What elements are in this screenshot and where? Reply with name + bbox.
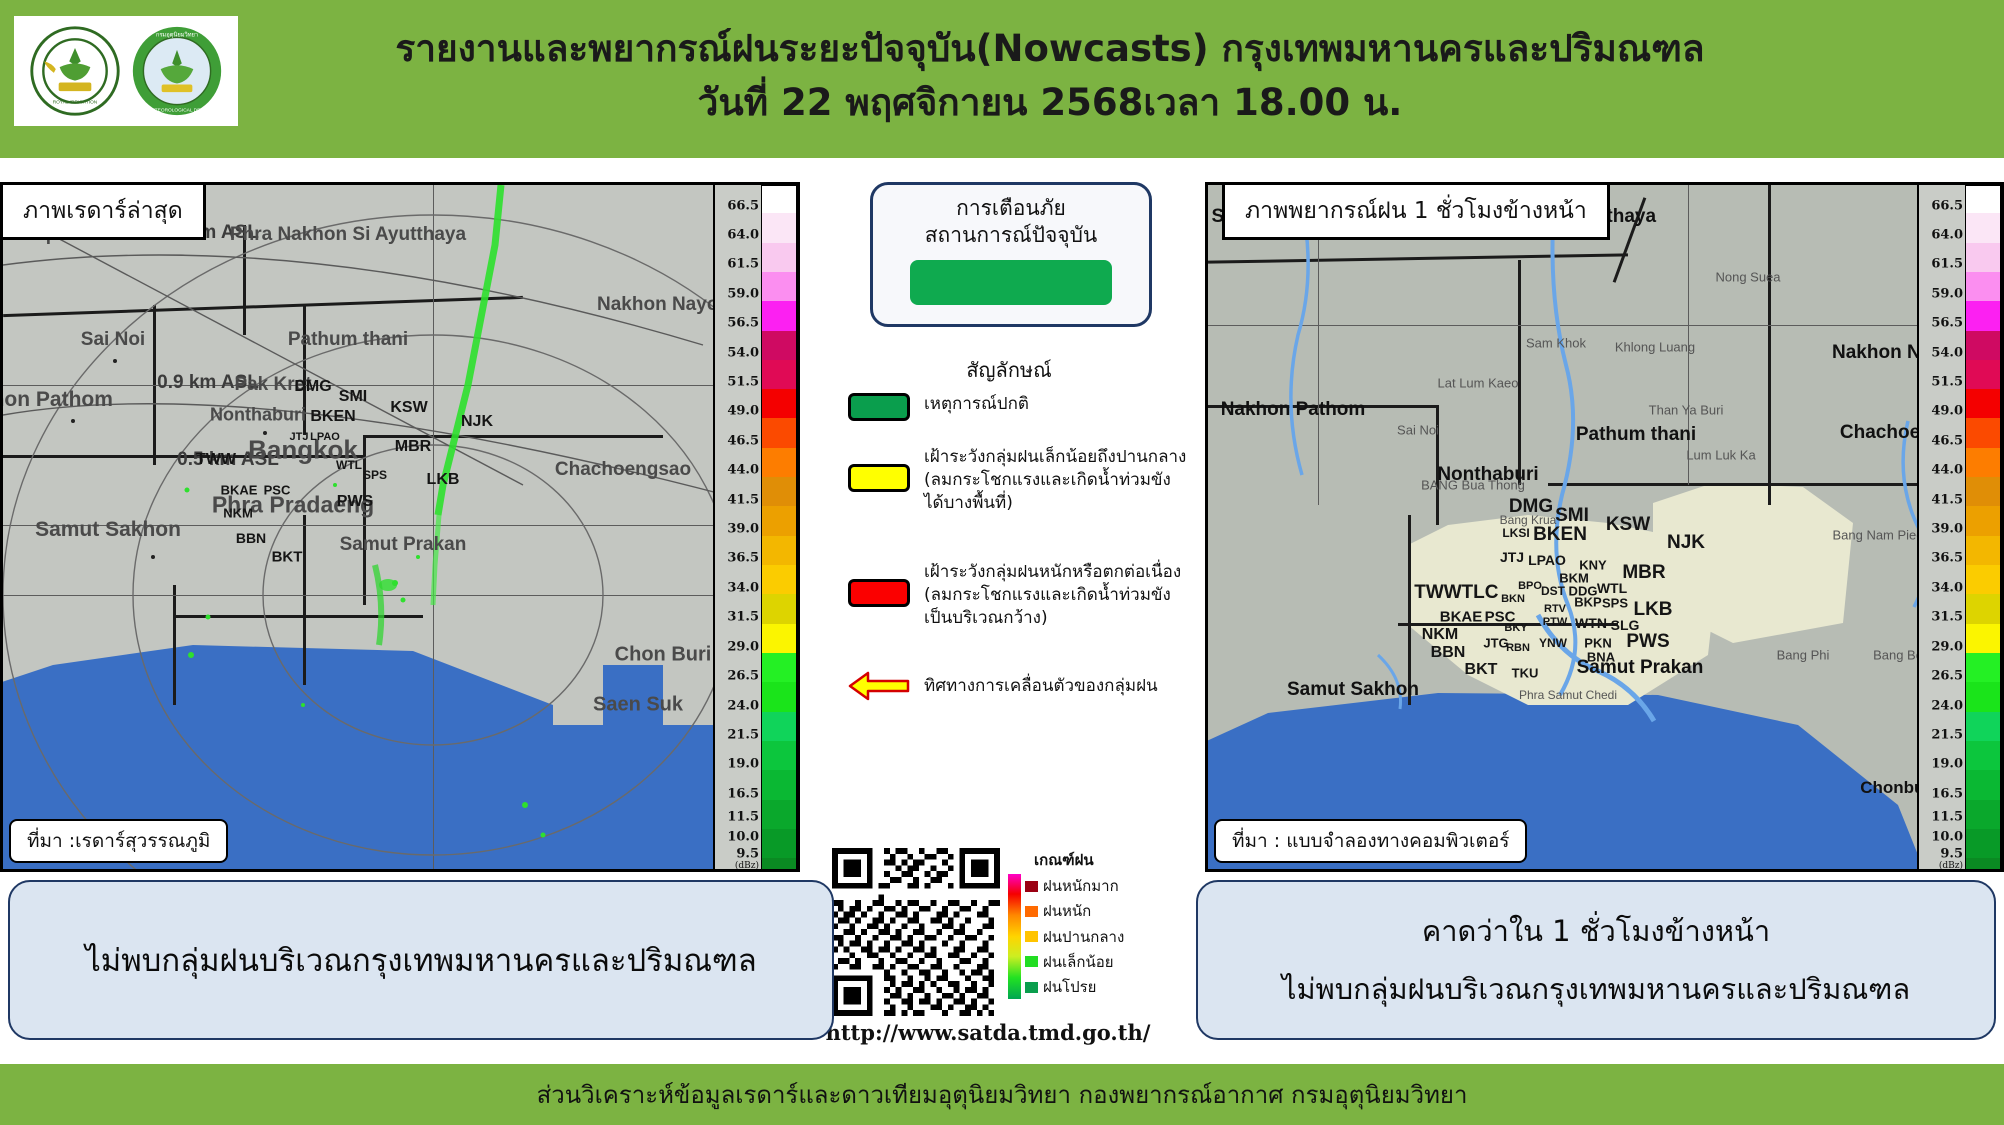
map-label-chachoengsao: Chachoengsao [555,459,691,481]
district-code-tww: TWW [196,451,236,469]
dbz-tick: 34.0 [727,580,759,595]
map-label-bang-phi: Bang Phi [1777,648,1830,663]
district-code-njk: NJK [461,413,493,431]
district-code-wtn: WTN [1575,615,1607,631]
city-dot [113,359,117,363]
district-code-bkt: BKT [1465,661,1498,679]
dbz-swatch [1966,536,2000,565]
rain-chip-very-heavy [1025,881,1038,892]
rain-chip-light [1025,956,1038,967]
district-code-bkae: BKAE [1440,609,1483,626]
dbz-swatch [1966,477,2000,506]
summary-forecast: คาดว่าใน 1 ชั่วโมงข้างหน้า ไม่พบกลุ่มฝนบ… [1196,880,1996,1040]
dbz-tick: 29.0 [1931,639,1963,654]
district-code-sps: SPS [1602,596,1628,611]
dbz-swatch [762,186,796,213]
district-code-lksi: LKSI [1502,526,1529,540]
dbz-tick: 16.5 [1931,786,1963,801]
dbz-swatch [1966,682,2000,711]
map-label-nakhon-nayok: Nakhon Nayok [597,294,729,316]
district-code-ynw: YNW [1539,636,1567,650]
page-title-line2: วันที่ 22 พฤศจิกายน 2568เวลา 18.00 น. [300,76,1800,130]
map-label-chon-buri: Chon Buri [615,644,712,667]
alert-status-card: การเตือนภัย สถานการณ์ปัจจุบัน [870,182,1152,327]
map-label-ayutthaya: Phra Nakhon Si Ayutthaya [230,224,466,246]
dbz-swatch [1966,858,2000,872]
district-code-njk: NJK [1667,532,1705,554]
alert-title-line2: สถานการณ์ปัจจุบัน [925,222,1098,249]
legend-title: สัญลักษณ์ [818,354,1200,386]
dbz-unit-label: (dBz) [735,861,759,871]
district-code-bpo: BPO [1518,580,1542,592]
map-label-saen-suk: Saen Suk [593,694,683,717]
dbz-tick: 46.5 [1931,433,1963,448]
legend-swatch-red [848,579,910,607]
dbz-tick: 44.0 [727,463,759,478]
dbz-swatch [762,712,796,741]
district-code-jtj: JTJ [1500,549,1524,565]
district-code-bkae: BKAE [221,483,258,498]
rain-criteria-item-heavy: ฝนหนัก [1025,899,1124,923]
content-stage: 1.8 km ASL 0.9 km ASL 0.5 km ASL [0,158,2004,1064]
dbz-swatch [762,477,796,506]
dbz-swatch [1966,506,2000,535]
map-label-bang-bo: Bang Bo [1873,648,1923,663]
dbz-swatch [1966,360,2000,389]
dbz-tick: 9.5 [1940,846,1963,861]
dbz-swatch [1966,331,2000,360]
dbz-swatch [1966,653,2000,682]
district-code-lpao: LPAO [310,431,340,443]
map-label-lat-lum-kaeo: Lat Lum Kaeo [1438,376,1519,391]
svg-text:กรมอุตุนิยมวิทยา: กรมอุตุนิยมวิทยา [156,31,198,38]
page-title-line1: รายงานและพยากรณ์ฝนระยะปัจจุบัน(Nowcasts)… [395,27,1704,70]
summary-forecast-line1: คาดว่าใน 1 ชั่วโมงข้างหน้า [1422,908,1770,954]
district-code-psc: PSC [264,483,291,498]
dbz-tick: 64.0 [727,227,759,242]
dbz-swatch [1966,301,2000,330]
legend-label-watch-heavy: เฝ้าระวังกลุ่มฝนหนักหรือตกต่อเนื่อง (ลมก… [924,561,1181,630]
rain-label-drizzle: ฝนโปรย [1043,975,1096,999]
district-code-pws: PWS [337,493,373,511]
dbz-tick: 21.5 [727,727,759,742]
legend-label-watch-light: เฝ้าระวังกลุ่มฝนเล็กน้อยถึงปานกลาง (ลมกร… [924,446,1186,515]
legend-item-watch-light: เฝ้าระวังกลุ่มฝนเล็กน้อยถึงปานกลาง (ลมกร… [848,446,1200,515]
rain-chip-moderate [1025,931,1038,942]
logo-box: ROYAL IRRIGATION กรมอุตุนิยมวิทยา METEOR… [14,16,238,126]
map-label-phra-samut-chedi: Phra Samut Chedi [1519,688,1617,702]
district-code-bken: BKEN [310,408,355,426]
dbz-tick: 59.0 [1931,286,1963,301]
district-code-bna: BNA [1587,650,1615,665]
legend-item-watch-heavy: เฝ้าระวังกลุ่มฝนหนักหรือตกต่อเนื่อง (ลมก… [848,561,1200,630]
rain-criteria-body: ฝนหนักมาก ฝนหนัก ฝนปานกลาง ฝนเล็กน้อย [1008,874,1198,999]
dbz-swatch [762,418,796,447]
website-url[interactable]: http://www.satda.tmd.go.th/ [818,1020,1158,1045]
dbz-tick: 39.0 [1931,522,1963,537]
rain-criteria-item-light: ฝนเล็กน้อย [1025,950,1124,974]
district-code-mbr: MBR [1622,562,1665,584]
district-code-bkt: BKT [272,549,303,566]
map-label-samut-sakhon: Samut Sakhon [1287,679,1419,701]
dbz-tick: 31.5 [727,610,759,625]
dbz-swatch [1966,594,2000,623]
map-label-sai-noi: Sai Noi [1397,423,1439,438]
dbz-swatch [762,536,796,565]
district-code-mbr: MBR [395,438,431,456]
district-code-tku: TKU [1512,666,1539,681]
dbz-swatch-stack [761,185,797,869]
dbz-tick: 51.5 [727,374,759,389]
dbz-tick: 36.5 [1931,551,1963,566]
dbz-tick: 66.5 [1931,198,1963,213]
map-label-nakhon-pathom: Nakhon Pathom [1221,399,1366,421]
district-code-smi: SMI [339,388,367,406]
dbz-unit-label: (dBz) [1939,861,1963,871]
dbz-swatch [762,506,796,535]
map-label-bang-nam-pieo: Bang Nam Pieo [1832,528,1923,543]
dbz-swatch [762,741,796,770]
dbz-swatch [1966,565,2000,594]
dbz-swatch [1966,770,2000,799]
rain-criteria-item-drizzle: ฝนโปรย [1025,975,1124,999]
dbz-tick: 29.0 [727,639,759,654]
rain-criteria-gradient-bar [1008,874,1021,999]
dbz-tick: 49.0 [1931,404,1963,419]
district-code-bbn: BBN [236,530,266,546]
district-code-lpao: LPAO [1528,552,1566,568]
dbz-tick: 39.0 [727,522,759,537]
map-label-nonthaburi: Nonthaburi [1437,464,1538,486]
radar-dbz-colorbar: 66.5 64.0 61.5 59.0 56.5 54.0 51.5 49.0 … [713,185,797,869]
dbz-swatch [1966,829,2000,858]
dbz-tick: 56.5 [1931,316,1963,331]
forecast-panel-caption: ภาพพยากรณ์ฝน 1 ชั่วโมงข้างหน้า [1222,182,1610,240]
district-code-dmg: DMG [294,378,331,396]
dbz-tick: 49.0 [727,404,759,419]
dbz-swatch [762,331,796,360]
dbz-tick: 59.0 [727,286,759,301]
map-label-lum-luk-ka: Lum Luk Ka [1686,448,1755,463]
legend-swatch-yellow [848,464,910,492]
dbz-swatch [1966,389,2000,418]
radar-panel[interactable]: 1.8 km ASL 0.9 km ASL 0.5 km ASL [0,182,800,872]
rain-label-moderate: ฝนปานกลาง [1043,925,1124,949]
dbz-swatch [1966,741,2000,770]
dbz-swatch [762,243,796,272]
page-title: รายงานและพยากรณ์ฝนระยะปัจจุบัน(Nowcasts)… [300,22,1800,129]
district-code-dmg: DMG [1509,496,1553,518]
rain-criteria-items: ฝนหนักมาก ฝนหนัก ฝนปานกลาง ฝนเล็กน้อย [1025,874,1124,999]
dbz-tick: 54.0 [727,345,759,360]
district-code-rbn: RBN [1506,642,1530,654]
page-header: ROYAL IRRIGATION กรมอุตุนิยมวิทยา METEOR… [0,0,2004,158]
city-dot [71,419,75,423]
district-code-bbn: BBN [1431,644,1466,662]
dbz-swatch [762,272,796,301]
dbz-tick: 10.0 [1931,829,1963,844]
district-code-jtj: JTJ [290,431,309,443]
rain-chip-heavy [1025,906,1038,917]
map-label-nong-suea: Nong Suea [1715,270,1780,285]
dbz-swatch [762,301,796,330]
district-code-bkp: BKP [1574,595,1601,610]
map-label-than-ya-buri: Than Ya Buri [1649,403,1724,418]
center-legend-column: การเตือนภัย สถานการณ์ปัจจุบัน สัญลักษณ์ … [818,158,1200,1064]
dbz-tick: 26.5 [727,669,759,684]
city-dot [151,555,155,559]
map-label-khlong-luang: Khlong Luang [1615,340,1695,355]
dbz-swatch [1966,272,2000,301]
qr-code-icon[interactable] [832,848,1000,1016]
dbz-swatch [1966,448,2000,477]
district-code-nkm: NKM [223,506,253,521]
dbz-swatch [1966,186,2000,213]
map-label-sai-noi: Sai Noi [81,329,145,351]
legend-item-direction: ทิศทางการเคลื่อนตัวของกลุ่มฝน [848,670,1200,702]
dbz-tick-labels: 66.5 64.0 61.5 59.0 56.5 54.0 51.5 49.0 … [715,185,761,869]
dbz-swatch [762,829,796,858]
district-code-bken: BKEN [1533,524,1587,546]
dbz-tick: 19.0 [1931,757,1963,772]
district-code-lkb: LKB [427,471,460,489]
map-label-sam-khok: Sam Khok [1526,336,1586,351]
dbz-tick: 64.0 [1931,227,1963,242]
radar-panel-caption: ภาพเรดาร์ล่าสุด [0,182,206,240]
dbz-swatch [762,624,796,653]
dbz-swatch [762,448,796,477]
dbz-tick: 24.0 [727,698,759,713]
dbz-tick: 19.0 [727,757,759,772]
dbz-tick: 41.5 [1931,492,1963,507]
district-code-ptw: PTW [1543,616,1567,628]
district-code-tww: TWW [1414,582,1461,604]
svg-text:METEOROLOGICAL DEPT: METEOROLOGICAL DEPT [148,107,207,113]
qr-code-wrapper[interactable] [832,848,1000,1021]
rain-criteria-item-moderate: ฝนปานกลาง [1025,925,1124,949]
map-label-samut-sakhon: Samut Sakhon [35,518,181,542]
dbz-tick-labels: 66.5 64.0 61.5 59.0 56.5 54.0 51.5 49.0 … [1919,185,1965,869]
alert-title-line1: การเตือนภัย [956,195,1066,222]
radar-source-label: ที่มา :เรดาร์สุวรรณภูมิ [9,819,228,863]
district-code-rtv: RTV [1544,603,1566,615]
dbz-swatch [762,360,796,389]
dbz-tick: 10.0 [727,829,759,844]
rain-label-very-heavy: ฝนหนักมาก [1043,874,1119,898]
forecast-panel[interactable]: Suphan Buri Phra Nakhon Si Ayutthaya Non… [1205,182,2004,872]
legend-swatch-green [848,393,910,421]
district-code-nkm: NKM [1422,626,1458,644]
dbz-tick: 26.5 [1931,669,1963,684]
map-label-nonthaburi: Nonthaburi [210,405,306,426]
district-code-wtl: WTL [336,458,362,472]
footer-text: ส่วนวิเคราะห์ข้อมูลเรดาร์และดาวเทียมอุตุ… [537,1075,1468,1114]
forecast-map[interactable]: Suphan Buri Phra Nakhon Si Ayutthaya Non… [1208,185,2001,869]
dbz-swatch [762,653,796,682]
alert-status-bar [910,260,1112,305]
dbz-swatch [1966,624,2000,653]
dbz-swatch [1966,418,2000,447]
dbz-tick: 66.5 [727,198,759,213]
district-code-bky: BKY [1504,622,1527,634]
summary-current: ไม่พบกลุ่มฝนบริเวณกรุงเทพมหานครและปริมณฑ… [8,880,834,1040]
legend-item-normal: เหตุการณ์ปกติ [848,393,1198,421]
dbz-tick: 36.5 [727,551,759,566]
legend-label-normal: เหตุการณ์ปกติ [924,393,1029,416]
district-code-bkn: BKN [1501,593,1525,605]
dbz-swatch [762,800,796,829]
dbz-tick: 31.5 [1931,610,1963,625]
left-arrow-icon [848,670,910,702]
city-dot [263,431,267,435]
dbz-tick: 34.0 [1931,580,1963,595]
rain-criteria-title: เกณฑ์ฝน [1034,848,1198,872]
rain-label-heavy: ฝนหนัก [1043,899,1091,923]
map-label-nakhon-pathom: Nakhon Pathom [0,388,113,412]
svg-text:ROYAL IRRIGATION: ROYAL IRRIGATION [53,100,98,106]
map-label-pathum-thani: Pathum thani [1576,424,1696,446]
dbz-tick: 61.5 [727,257,759,272]
dbz-swatch [762,213,796,242]
rain-criteria-legend: เกณฑ์ฝน ฝนหนักมาก ฝนหนัก ฝนปานกลาง [1008,848,1198,999]
district-code-pkn: PKN [1584,636,1611,651]
dbz-swatch [762,682,796,711]
dbz-swatch [762,594,796,623]
dbz-tick: 56.5 [727,316,759,331]
dbz-swatch [1966,243,2000,272]
royal-irrigation-emblem-icon: ROYAL IRRIGATION [27,23,123,119]
rain-chip-drizzle [1025,982,1038,993]
dbz-swatch [1966,800,2000,829]
forecast-source-label: ที่มา : แบบจำลองทางคอมพิวเตอร์ [1214,819,1527,863]
dbz-swatch [1966,712,2000,741]
dbz-tick: 16.5 [727,786,759,801]
thai-meteorological-department-emblem-icon: กรมอุตุนิยมวิทยา METEOROLOGICAL DEPT [129,23,225,119]
dbz-swatch [762,389,796,418]
summary-forecast-line2: ไม่พบกลุ่มฝนบริเวณกรุงเทพมหานครและปริมณฑ… [1282,966,1910,1012]
rain-criteria-item-very-heavy: ฝนหนักมาก [1025,874,1124,898]
dbz-tick: 21.5 [1931,727,1963,742]
dbz-tick: 11.5 [727,810,759,825]
dbz-swatch [1966,213,2000,242]
district-code-sps: SPS [363,468,387,482]
dbz-tick: 46.5 [727,433,759,448]
map-label-pathum-thani: Pathum thani [288,329,408,351]
dbz-tick: 44.0 [1931,463,1963,478]
dbz-tick: 61.5 [1931,257,1963,272]
map-label-samut-prakan: Samut Prakan [340,534,467,556]
dbz-tick: 51.5 [1931,374,1963,389]
district-code-pws: PWS [1626,631,1669,653]
district-code-jtg: JTG [1483,636,1508,651]
district-code-tlc: TLC [1462,582,1499,604]
district-code-ksw: KSW [1606,514,1650,536]
dbz-swatch [762,770,796,799]
dbz-tick: 9.5 [736,846,759,861]
page-footer: ส่วนวิเคราะห์ข้อมูลเรดาร์และดาวเทียมอุตุ… [0,1064,2004,1125]
dbz-tick: 11.5 [1931,810,1963,825]
dbz-swatch-stack [1965,185,2001,869]
district-code-ksw: KSW [390,399,427,417]
district-code-dst: DST [1541,584,1565,598]
rain-label-light: ฝนเล็กน้อย [1043,950,1114,974]
forecast-dbz-colorbar: 66.5 64.0 61.5 59.0 56.5 54.0 51.5 49.0 … [1917,185,2001,869]
radar-map[interactable]: 1.8 km ASL 0.9 km ASL 0.5 km ASL [3,185,797,869]
dbz-tick: 54.0 [1931,345,1963,360]
dbz-tick: 24.0 [1931,698,1963,713]
dbz-swatch [762,565,796,594]
dbz-tick: 41.5 [727,492,759,507]
dbz-swatch [762,858,796,872]
legend-label-direction: ทิศทางการเคลื่อนตัวของกลุ่มฝน [924,675,1158,698]
summary-current-text: ไม่พบกลุ่มฝนบริเวณกรุงเทพมหานครและปริมณฑ… [85,935,757,985]
